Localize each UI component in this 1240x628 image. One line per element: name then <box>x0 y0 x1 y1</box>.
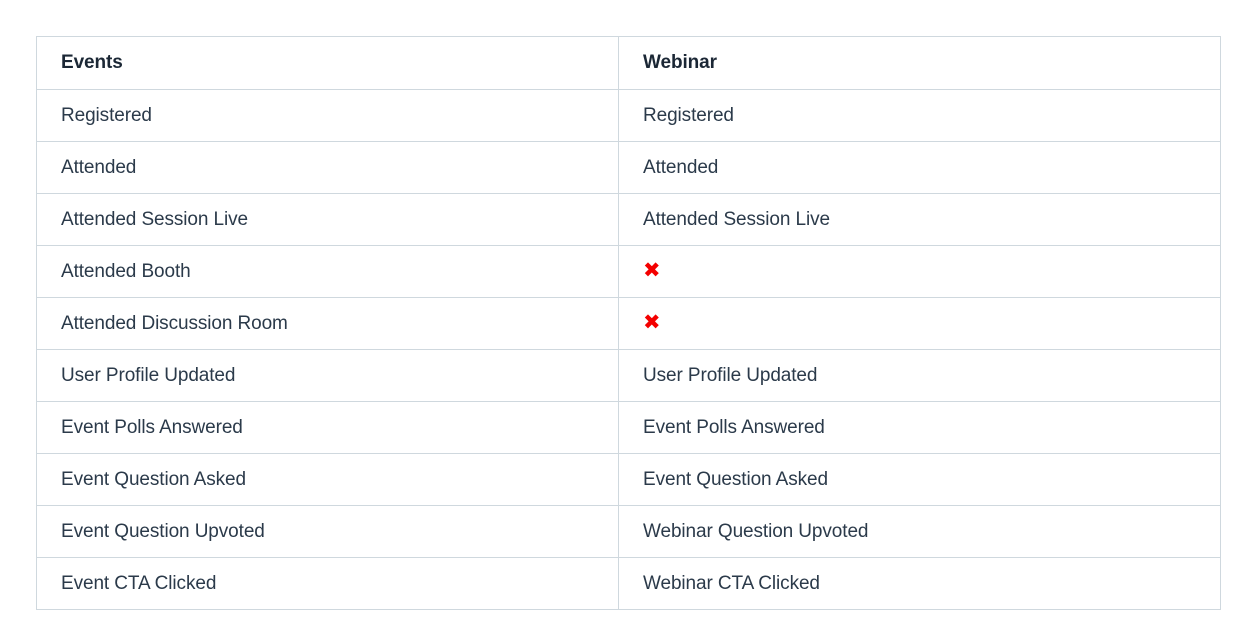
cell-webinar: Event Polls Answered <box>619 402 1221 454</box>
red-cross-icon: ✖ <box>643 260 661 281</box>
table-row: Attended Discussion Room✖ <box>37 298 1221 350</box>
table-header: Events Webinar <box>37 37 1221 90</box>
cell-webinar: Attended Session Live <box>619 194 1221 246</box>
cell-events: Event Question Upvoted <box>37 506 619 558</box>
cell-events: Event CTA Clicked <box>37 558 619 610</box>
cell-events: Event Polls Answered <box>37 402 619 454</box>
page-container: Events Webinar RegisteredRegisteredAtten… <box>0 0 1240 628</box>
cell-events: Attended Discussion Room <box>37 298 619 350</box>
cell-events: Attended Booth <box>37 246 619 298</box>
table-row: AttendedAttended <box>37 142 1221 194</box>
table-row: Event CTA ClickedWebinar CTA Clicked <box>37 558 1221 610</box>
cell-events: Attended Session Live <box>37 194 619 246</box>
cell-webinar: Webinar Question Upvoted <box>619 506 1221 558</box>
table-row: Event Question UpvotedWebinar Question U… <box>37 506 1221 558</box>
cell-events: User Profile Updated <box>37 350 619 402</box>
column-header-webinar: Webinar <box>619 37 1221 90</box>
cell-events: Registered <box>37 90 619 142</box>
table-row: Event Polls AnsweredEvent Polls Answered <box>37 402 1221 454</box>
cell-webinar: ✖ <box>619 298 1221 350</box>
cell-webinar: Event Question Asked <box>619 454 1221 506</box>
cell-webinar: Registered <box>619 90 1221 142</box>
table-row: User Profile UpdatedUser Profile Updated <box>37 350 1221 402</box>
cell-webinar: User Profile Updated <box>619 350 1221 402</box>
column-header-events: Events <box>37 37 619 90</box>
cell-events: Attended <box>37 142 619 194</box>
table-row: RegisteredRegistered <box>37 90 1221 142</box>
events-webinar-comparison-table: Events Webinar RegisteredRegisteredAtten… <box>36 36 1221 610</box>
table-row: Attended Booth✖ <box>37 246 1221 298</box>
table-row: Event Question AskedEvent Question Asked <box>37 454 1221 506</box>
cell-events: Event Question Asked <box>37 454 619 506</box>
table-row: Attended Session LiveAttended Session Li… <box>37 194 1221 246</box>
table-header-row: Events Webinar <box>37 37 1221 90</box>
red-cross-icon: ✖ <box>643 312 661 333</box>
cell-webinar: Webinar CTA Clicked <box>619 558 1221 610</box>
cell-webinar: Attended <box>619 142 1221 194</box>
table-body: RegisteredRegisteredAttendedAttendedAtte… <box>37 90 1221 610</box>
cell-webinar: ✖ <box>619 246 1221 298</box>
